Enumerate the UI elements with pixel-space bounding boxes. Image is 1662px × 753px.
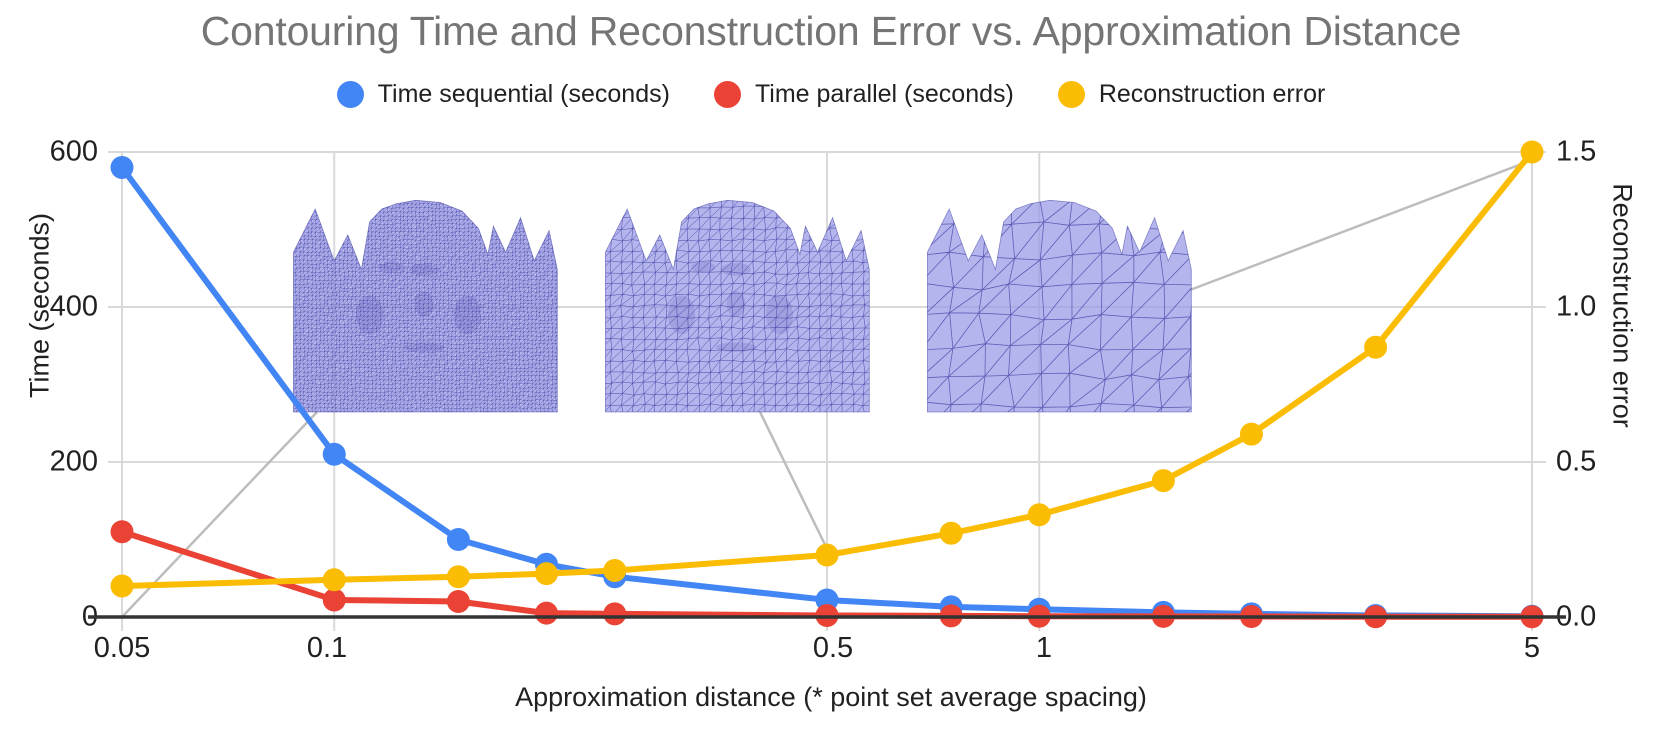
data-point[interactable] bbox=[535, 602, 558, 625]
data-point[interactable] bbox=[940, 522, 963, 545]
mesh-thumbnail-coarse bbox=[920, 193, 1256, 469]
thumbnail-leader-line bbox=[1190, 160, 1532, 290]
data-point[interactable] bbox=[323, 588, 346, 611]
data-point[interactable] bbox=[447, 590, 470, 613]
data-point[interactable] bbox=[603, 602, 626, 625]
data-point[interactable] bbox=[1028, 503, 1051, 526]
data-point[interactable] bbox=[603, 559, 626, 582]
data-point[interactable] bbox=[1521, 141, 1544, 164]
mesh-thumbnails bbox=[288, 193, 1256, 469]
mesh-thumbnail-dense bbox=[288, 196, 565, 417]
chart-root: Contouring Time and Reconstruction Error… bbox=[0, 0, 1662, 753]
data-point[interactable] bbox=[111, 575, 134, 598]
data-point[interactable] bbox=[447, 565, 470, 588]
mesh-silhouette bbox=[927, 200, 1191, 412]
data-point[interactable] bbox=[323, 443, 346, 466]
data-point[interactable] bbox=[323, 568, 346, 591]
mesh-thumbnail-medium bbox=[599, 195, 887, 428]
data-point[interactable] bbox=[1364, 336, 1387, 359]
data-point[interactable] bbox=[816, 544, 839, 567]
data-point[interactable] bbox=[111, 520, 134, 543]
data-point[interactable] bbox=[1240, 423, 1263, 446]
data-point[interactable] bbox=[535, 562, 558, 585]
data-point[interactable] bbox=[1152, 469, 1175, 492]
data-point[interactable] bbox=[447, 528, 470, 551]
data-point[interactable] bbox=[111, 156, 134, 179]
thumbnail-leader-line bbox=[760, 412, 833, 561]
plot-area bbox=[0, 0, 1662, 753]
